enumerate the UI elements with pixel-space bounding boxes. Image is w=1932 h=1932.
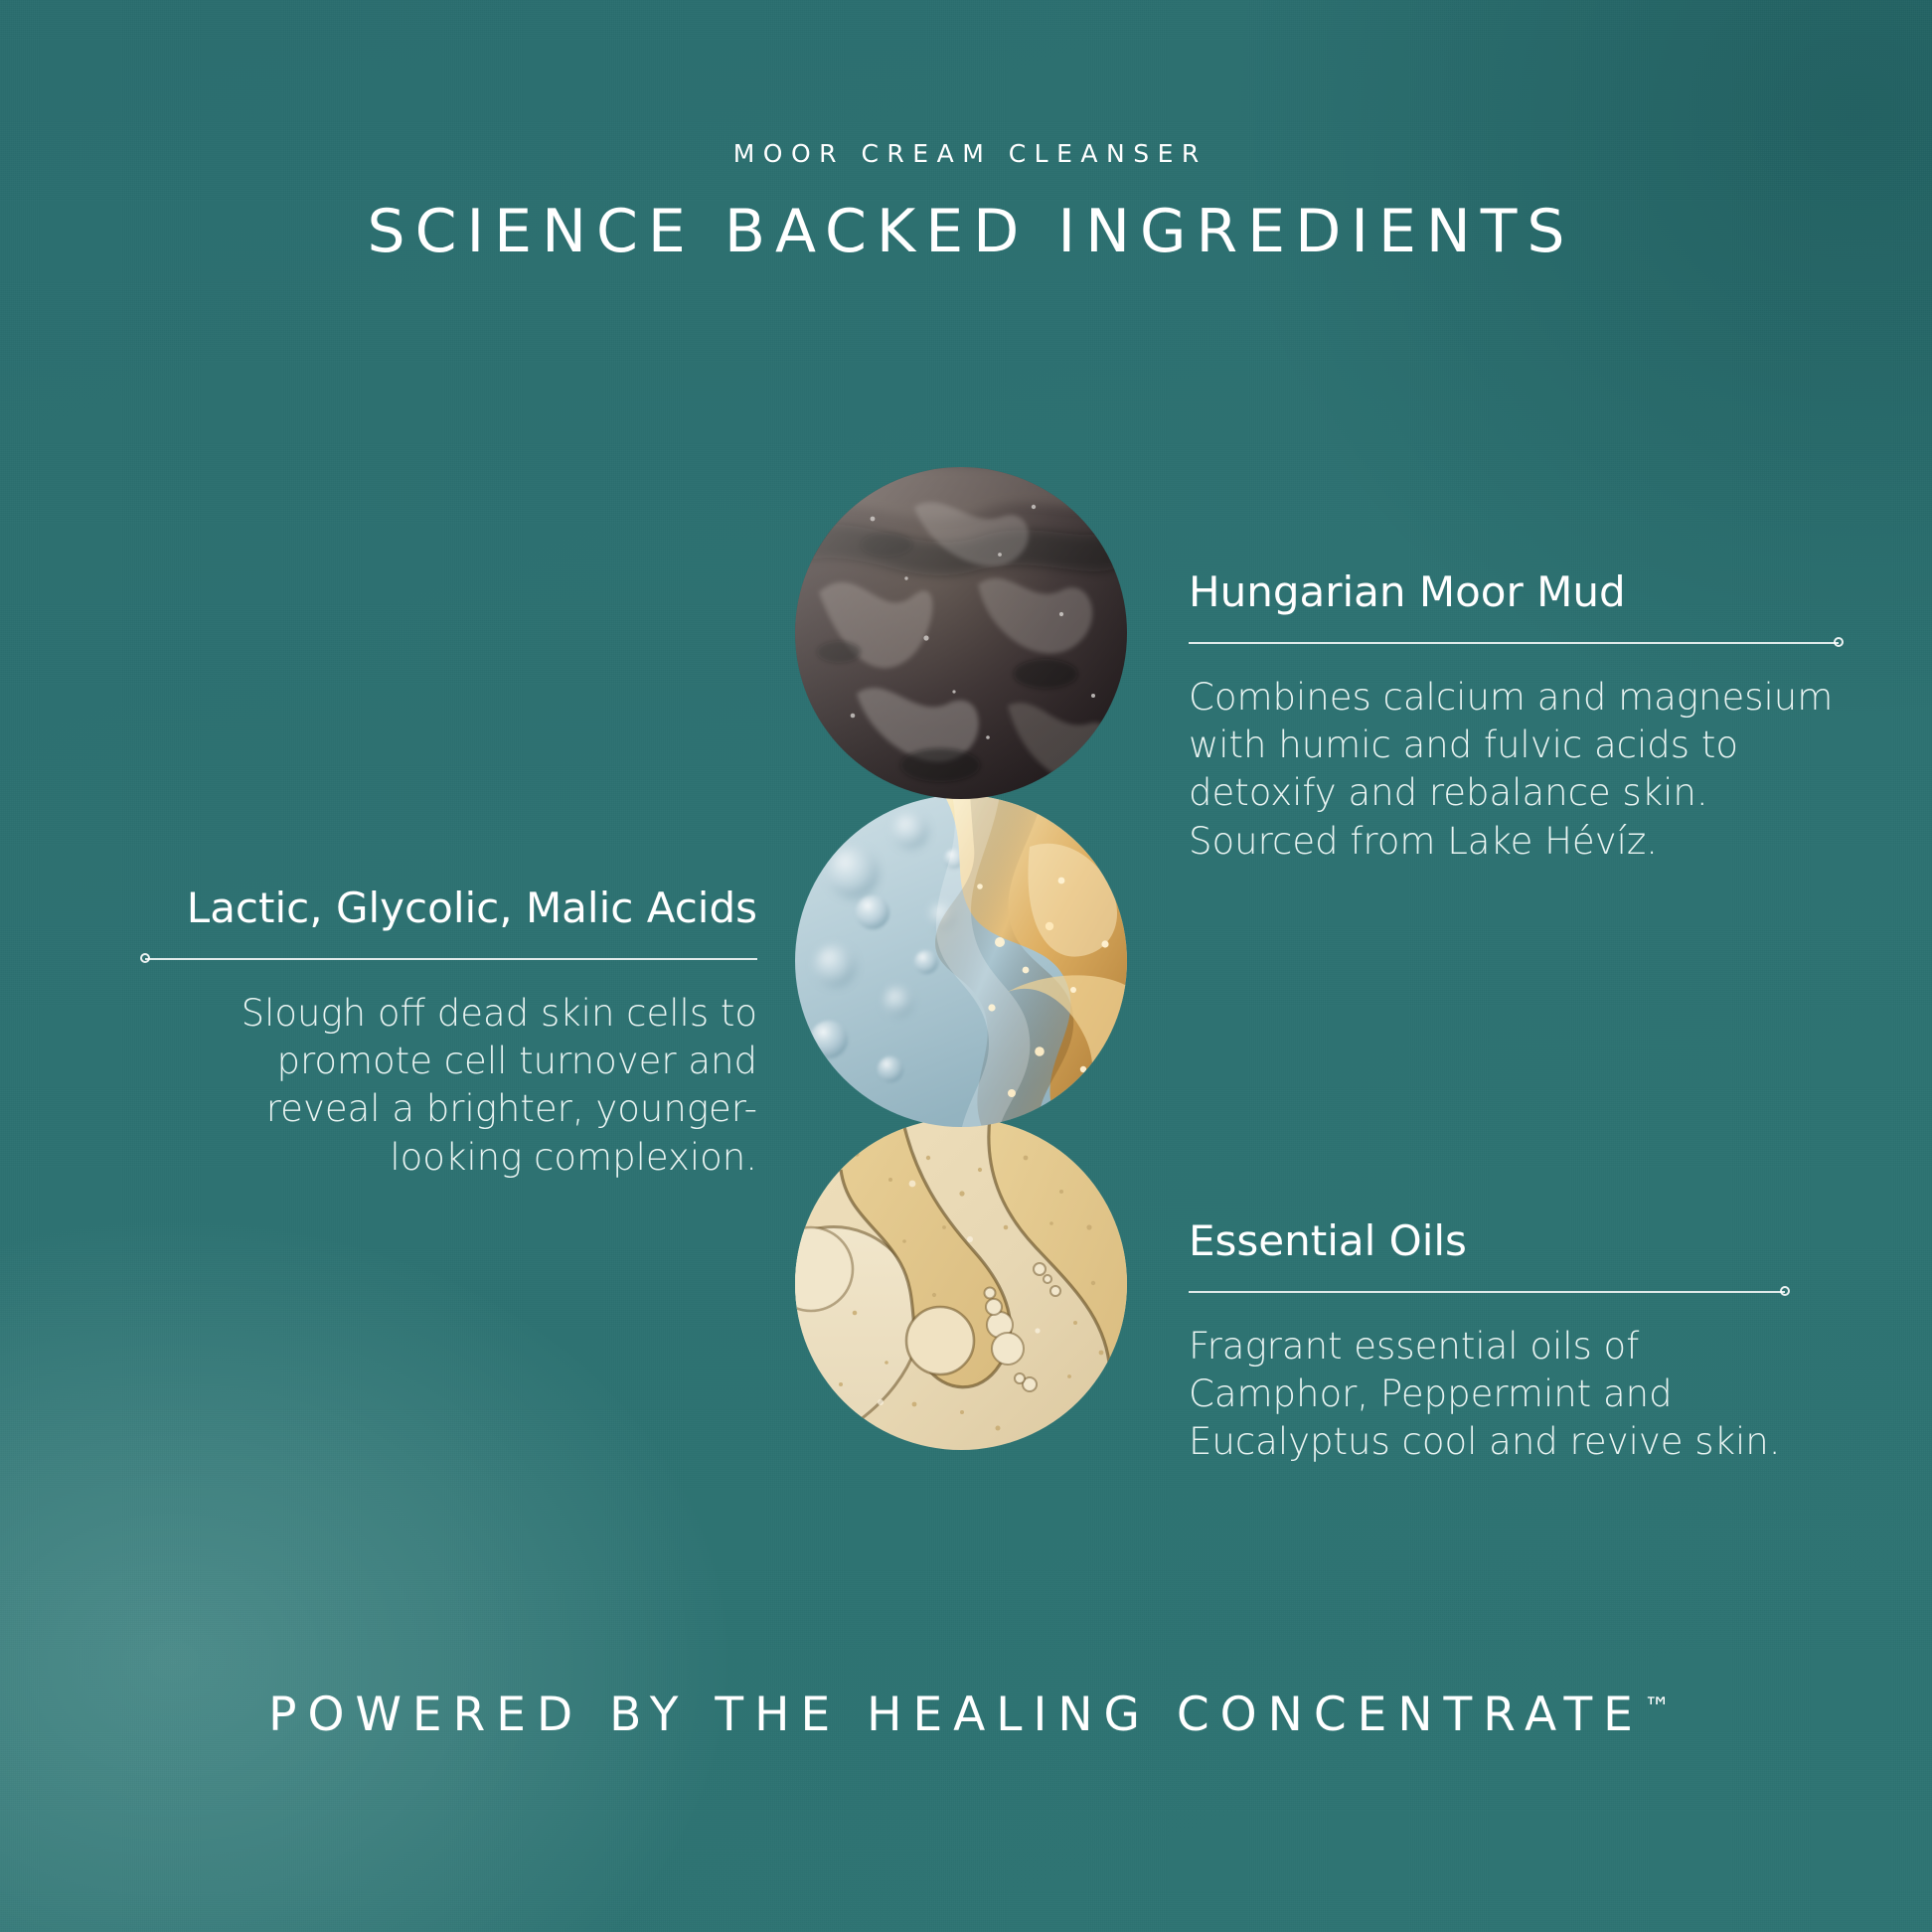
product-eyebrow-label: MOOR CREAM CLEANSER [0,139,1932,168]
divider-endpoint-dot-icon [1834,637,1844,647]
description-line: with humic and fulvic acids to [1189,722,1839,769]
ingredient-title-lactic-glycolic-malic-acids: Lactic, Glycolic, Malic Acids [145,885,757,932]
divider-essential-oils [1189,1291,1785,1293]
description-line: Fragrant essential oils of [1189,1323,1785,1370]
brand-tagline-text: POWERED BY THE HEALING CONCENTRATE [268,1688,1644,1742]
divider-hungarian-moor-mud [1189,642,1839,644]
description-line: promote cell turnover and [145,1038,757,1085]
ingredient-infographic: MOOR CREAM CLEANSER SCIENCE BACKED INGRE… [0,0,1932,1932]
ingredient-title-essential-oils: Essential Oils [1189,1217,1785,1265]
description-line: Camphor, Peppermint and [1189,1370,1785,1418]
divider-lactic-glycolic-malic-acids [145,958,757,960]
description-line: looking complexion. [145,1134,757,1182]
ingredient-description-essential-oils: Fragrant essential oils of Camphor, Pepp… [1189,1323,1785,1466]
trademark-symbol: ™ [1644,1692,1675,1723]
description-line: detoxify and rebalance skin. [1189,769,1839,817]
description-line: Combines calcium and magnesium [1189,674,1839,722]
ingredient-block-hungarian-moor-mud: Hungarian Moor Mud Combines calcium and … [1189,568,1839,866]
description-line: Slough off dead skin cells to [145,990,757,1038]
brand-tagline: POWERED BY THE HEALING CONCENTRATE™ [0,1688,1932,1742]
description-line: Eucalyptus cool and revive skin. [1189,1418,1785,1466]
essential-oil-swatch-image [795,1118,1127,1450]
ingredient-title-hungarian-moor-mud: Hungarian Moor Mud [1189,568,1839,616]
divider-endpoint-dot-icon [140,953,150,963]
description-line: reveal a brighter, younger- [145,1085,757,1133]
ingredient-block-essential-oils: Essential Oils Fragrant essential oils o… [1189,1217,1785,1467]
divider-endpoint-dot-icon [1780,1286,1790,1296]
ingredient-description-hungarian-moor-mud: Combines calcium and magnesium with humi… [1189,674,1839,865]
acid-serum-swatch-image [795,795,1127,1127]
description-line: Sourced from Lake Hévíz. [1189,818,1839,866]
moor-mud-swatch-image [795,467,1127,799]
page-title: SCIENCE BACKED INGREDIENTS [0,197,1932,266]
ingredient-description-lactic-glycolic-malic-acids: Slough off dead skin cells to promote ce… [145,990,757,1181]
ingredient-block-lactic-glycolic-malic-acids: Lactic, Glycolic, Malic Acids Slough off… [145,885,757,1182]
